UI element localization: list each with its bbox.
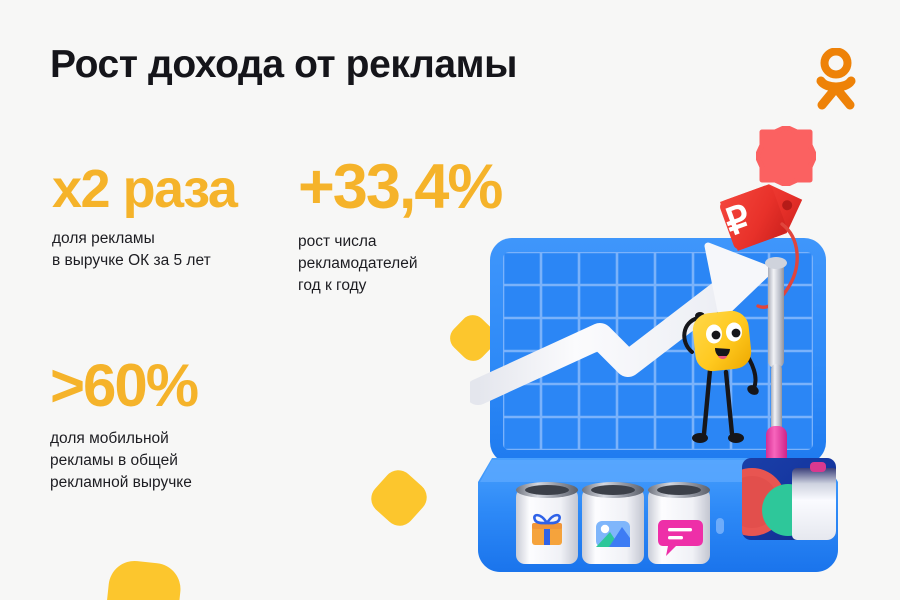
jar-gift	[516, 482, 578, 564]
yellow-diamond-large-icon	[365, 464, 433, 532]
ad-revenue-vending-machine-illustration: ₽	[470, 120, 890, 580]
stat-value: x2 раза	[52, 162, 236, 216]
stat-value: >60%	[50, 356, 197, 416]
yellow-corner-blob-icon	[105, 558, 183, 600]
stat-mobile-share: >60% доля мобильной рекламы в общей рекл…	[50, 356, 197, 494]
infographic-poster: Рост дохода от рекламы x2 раза доля рекл…	[0, 0, 900, 600]
jar-chat	[648, 482, 710, 564]
page-title: Рост дохода от рекламы	[50, 44, 517, 87]
jar-photo	[582, 482, 644, 564]
photo-icon	[596, 521, 630, 547]
stat-revenue-share: x2 раза доля рекламы в выручке ОК за 5 л…	[52, 162, 236, 272]
telescopic-pole-icon	[765, 257, 787, 466]
ok-logo	[812, 48, 860, 110]
jar-row	[516, 482, 724, 564]
stat-caption: доля рекламы в выручке ОК за 5 лет	[52, 228, 236, 272]
stat-caption: доля мобильной рекламы в общей рекламной…	[50, 428, 197, 494]
